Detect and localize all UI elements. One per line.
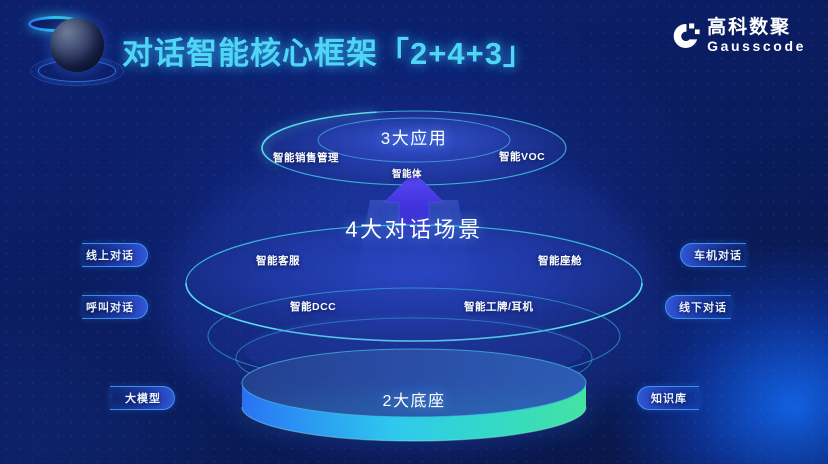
slide-canvas: 对话智能核心框架「2+4+3」 高科数聚 Gausscode 3大应用 4大对话… <box>0 0 828 464</box>
brand-name-cn: 高科数聚 <box>707 18 806 37</box>
page-title: 对话智能核心框架「2+4+3」 <box>122 28 535 73</box>
layer-title-applications: 3大应用 <box>0 124 828 149</box>
brand-name-en: Gausscode <box>707 39 806 53</box>
pill-knowledge-base[interactable]: 知识库 <box>637 386 699 410</box>
sphere-orb-icon <box>28 16 114 100</box>
pill-vehicle-dialogue[interactable]: 车机对话 <box>680 243 746 267</box>
orb-sphere <box>50 18 104 72</box>
scenario-item-cockpit: 智能座舱 <box>538 253 582 268</box>
scenario-item-badge-headset: 智能工牌/耳机 <box>464 299 533 314</box>
scenario-item-customer-service: 智能客服 <box>256 253 300 268</box>
pill-offline-dialogue[interactable]: 线下对话 <box>665 295 731 319</box>
layer-title-scenarios: 4大对话场景 <box>0 212 828 244</box>
brand-logo: 高科数聚 Gausscode <box>670 18 806 53</box>
slide-header: 对话智能核心框架「2+4+3」 高科数聚 Gausscode <box>0 0 828 96</box>
scenario-item-dcc: 智能DCC <box>290 299 336 314</box>
pill-call-dialogue[interactable]: 呼叫对话 <box>82 295 148 319</box>
app-item-sales-management: 智能销售管理 <box>273 150 339 165</box>
app-item-agent: 智能体 <box>392 166 422 180</box>
pill-online-dialogue[interactable]: 线上对话 <box>82 243 148 267</box>
gausscode-g-mark-icon <box>670 21 700 51</box>
pill-large-model[interactable]: 大模型 <box>110 386 175 410</box>
app-item-voc: 智能VOC <box>499 149 545 164</box>
